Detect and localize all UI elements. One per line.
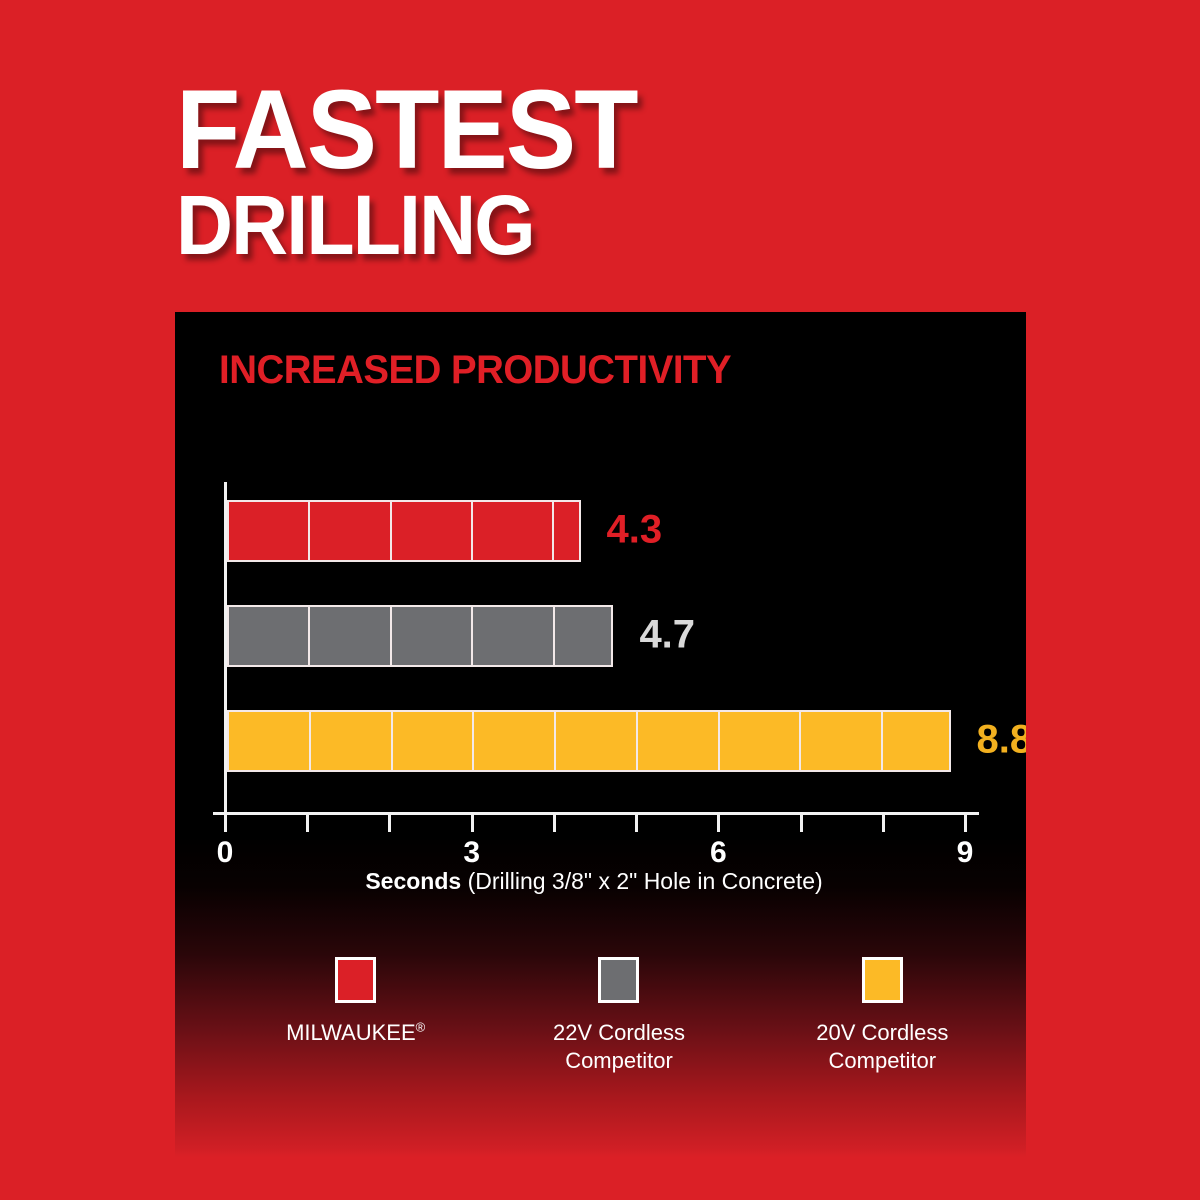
x-axis-caption-strong: Seconds [365,868,461,894]
x-axis-tick [224,815,227,832]
bar-segment [801,712,883,770]
bar-segment [720,712,802,770]
legend: MILWAUKEE®22V Cordless Competitor20V Cor… [224,957,1014,1074]
bar-value-label: 4.3 [607,508,663,553]
legend-swatch-22v [598,957,639,1003]
x-axis-tick-label: 0 [217,836,234,870]
bar-segment [556,712,638,770]
bar-segment [229,712,311,770]
chart-panel: INCREASED PRODUCTIVITY 4.34.78.8 Seconds… [175,312,1026,1157]
bar-segment [392,502,473,560]
x-axis-caption-rest: (Drilling 3/8" x 2" Hole in Concrete) [461,868,822,894]
headline-line-2: DRILLING [176,187,1022,264]
x-axis-tick-label: 9 [957,836,974,870]
bar-segment [638,712,720,770]
x-axis-line [213,812,979,815]
bar-1 [227,500,581,562]
registered-trademark-icon: ® [416,1020,426,1035]
x-axis-tick [553,815,556,832]
legend-item: MILWAUKEE® [224,957,487,1074]
legend-item: 22V Cordless Competitor [487,957,750,1074]
legend-item: 20V Cordless Competitor [751,957,1014,1074]
bar-segment [229,502,310,560]
bar-segment [473,502,554,560]
x-axis-tick [306,815,309,832]
bar-segment [310,502,391,560]
bar-segment [474,712,556,770]
bar-segment [392,607,473,665]
bar-segment-partial [883,712,948,770]
bar-row: 4.7 [227,605,613,667]
legend-item-label: 22V Cordless Competitor [553,1019,685,1074]
legend-swatch-20v [862,957,903,1003]
x-axis-tick [717,815,720,832]
panel-title: INCREASED PRODUCTIVITY [219,348,731,393]
headline: FASTEST DRILLING [176,78,1076,264]
bar-value-label: 8.8 [977,718,1026,763]
legend-item-label: MILWAUKEE® [286,1019,425,1047]
bar-3 [227,710,951,772]
x-axis-tick [635,815,638,832]
bar-segment-partial [555,607,612,665]
x-axis-tick [388,815,391,832]
bar-segment [311,712,393,770]
headline-line-1: FASTEST [176,78,1022,181]
bar-row: 8.8 [227,710,951,772]
bar-segment-partial [554,502,578,560]
x-axis-tick [800,815,803,832]
bar-segment [310,607,391,665]
bar-segment [473,607,554,665]
x-axis-tick [471,815,474,832]
bar-row: 4.3 [227,500,581,562]
x-axis-tick-label: 6 [710,836,727,870]
bar-segment [393,712,475,770]
x-axis-tick [882,815,885,832]
bar-2 [227,605,613,667]
x-axis-tick-label: 3 [463,836,480,870]
x-axis-caption: Seconds (Drilling 3/8" x 2" Hole in Conc… [224,868,964,895]
x-axis-tick [964,815,967,832]
legend-item-label: 20V Cordless Competitor [816,1019,948,1074]
bar-segment [229,607,310,665]
plot-area: 4.34.78.8 [224,482,964,812]
bar-value-label: 4.7 [639,613,695,658]
legend-swatch-milwaukee [335,957,376,1003]
